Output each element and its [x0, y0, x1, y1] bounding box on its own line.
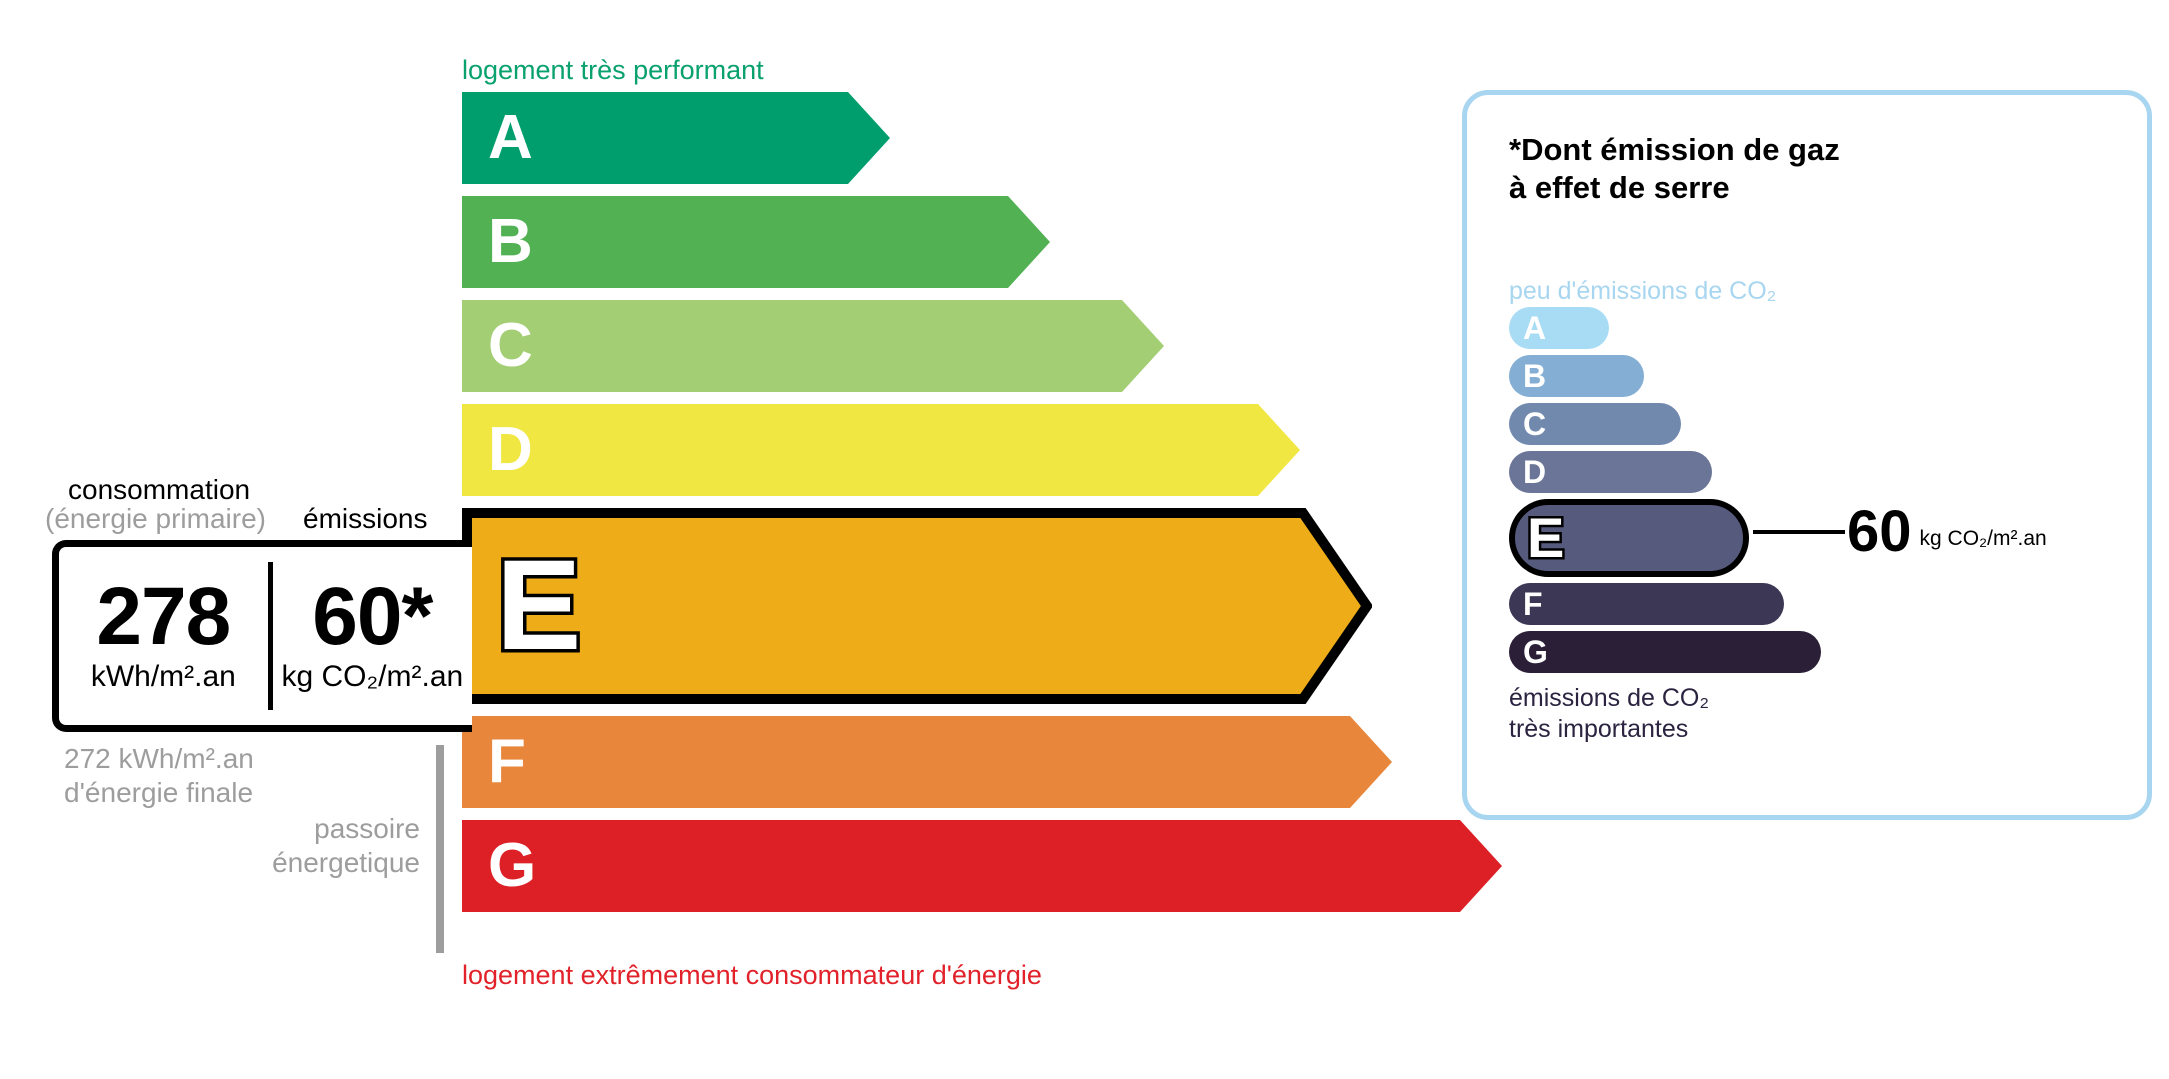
- energy-consumption-panel: logement très performant ABCDEFG logemen…: [0, 0, 1380, 1079]
- emission-value: 60*: [279, 578, 466, 657]
- co2-leader-line: [1753, 530, 1845, 534]
- co2-callout: 60 kg CO₂/m².an: [1753, 493, 2047, 571]
- energy-arrow-c-icon: [462, 300, 1164, 392]
- co2-title-line1: *Dont émission de gaz: [1509, 131, 1840, 169]
- co2-class-row-d: D: [1509, 451, 2109, 493]
- final-energy-value: 272 kWh/m².an: [64, 742, 254, 776]
- co2-callout-value: 60: [1847, 503, 1912, 561]
- consumption-cell: 278 kWh/m².an: [59, 578, 268, 695]
- emission-cell: 60* kg CO₂/m².an: [273, 578, 472, 695]
- co2-bar-e: [1509, 499, 1749, 577]
- energy-arrow-a-icon: [462, 92, 890, 184]
- energy-arrow-g-icon: [462, 820, 1502, 912]
- co2-bar-b: [1509, 355, 1644, 397]
- energy-class-row-e: E: [462, 508, 1282, 704]
- energy-class-arrows: ABCDEFG: [462, 92, 1282, 924]
- co2-bottom-line2: très importantes: [1509, 714, 1709, 745]
- energy-class-row-a: A: [462, 92, 1282, 184]
- co2-bar-a: [1509, 307, 1609, 349]
- co2-class-row-f: F: [1509, 583, 2109, 625]
- energy-arrow-b-icon: [462, 196, 1050, 288]
- energy-arrow-d-icon: [462, 404, 1300, 496]
- energy-class-row-d: D: [462, 404, 1282, 496]
- emission-unit: kg CO₂/m².an: [279, 660, 466, 694]
- final-energy-note: 272 kWh/m².an d'énergie finale: [64, 742, 254, 809]
- co2-top-caption: peu d'émissions de CO₂: [1509, 277, 1776, 306]
- co2-panel-title: *Dont émission de gaz à effet de serre: [1509, 131, 1840, 207]
- co2-callout-unit: kg CO₂/m².an: [1920, 513, 2047, 551]
- value-box-headers: consommation (énergie primaire) émission…: [0, 474, 462, 534]
- energy-bottom-caption: logement extrêmement consommateur d'éner…: [462, 960, 1042, 991]
- co2-class-row-g: G: [1509, 631, 2109, 673]
- co2-bottom-caption: émissions de CO₂ très importantes: [1509, 683, 1709, 744]
- co2-class-row-c: C: [1509, 403, 2109, 445]
- co2-emission-panel: *Dont émission de gaz à effet de serre p…: [1462, 90, 2152, 820]
- passoire-line1: passoire: [190, 812, 420, 846]
- passoire-line2: énergetique: [190, 846, 420, 880]
- energy-class-row-c: C: [462, 300, 1282, 392]
- energy-arrow-f-icon: [462, 716, 1392, 808]
- co2-bottom-line1: émissions de CO₂: [1509, 683, 1709, 714]
- co2-class-row-a: A: [1509, 307, 2109, 349]
- dpe-label: logement très performant ABCDEFG logemen…: [0, 0, 2169, 1079]
- co2-bar-c: [1509, 403, 1681, 445]
- label-emissions: émissions: [303, 503, 427, 535]
- value-box: 278 kWh/m².an 60* kg CO₂/m².an: [52, 540, 472, 732]
- co2-bar-f: [1509, 583, 1784, 625]
- energy-class-row-f: F: [462, 716, 1282, 808]
- label-consommation: consommation: [68, 474, 250, 506]
- co2-bar-g: [1509, 631, 1821, 673]
- energy-class-row-g: G: [462, 820, 1282, 912]
- co2-bar-d: [1509, 451, 1712, 493]
- energy-class-row-b: B: [462, 196, 1282, 288]
- co2-class-row-b: B: [1509, 355, 2109, 397]
- final-energy-label: d'énergie finale: [64, 776, 254, 810]
- passoire-bracket-bar: [436, 745, 444, 953]
- consumption-value: 278: [65, 578, 262, 657]
- co2-title-line2: à effet de serre: [1509, 169, 1840, 207]
- label-energie-primaire: (énergie primaire): [45, 503, 266, 535]
- energy-top-caption: logement très performant: [462, 55, 764, 86]
- energy-arrow-e-icon: [462, 508, 1372, 704]
- consumption-unit: kWh/m².an: [65, 660, 262, 694]
- passoire-energetique-note: passoire énergetique: [190, 812, 420, 879]
